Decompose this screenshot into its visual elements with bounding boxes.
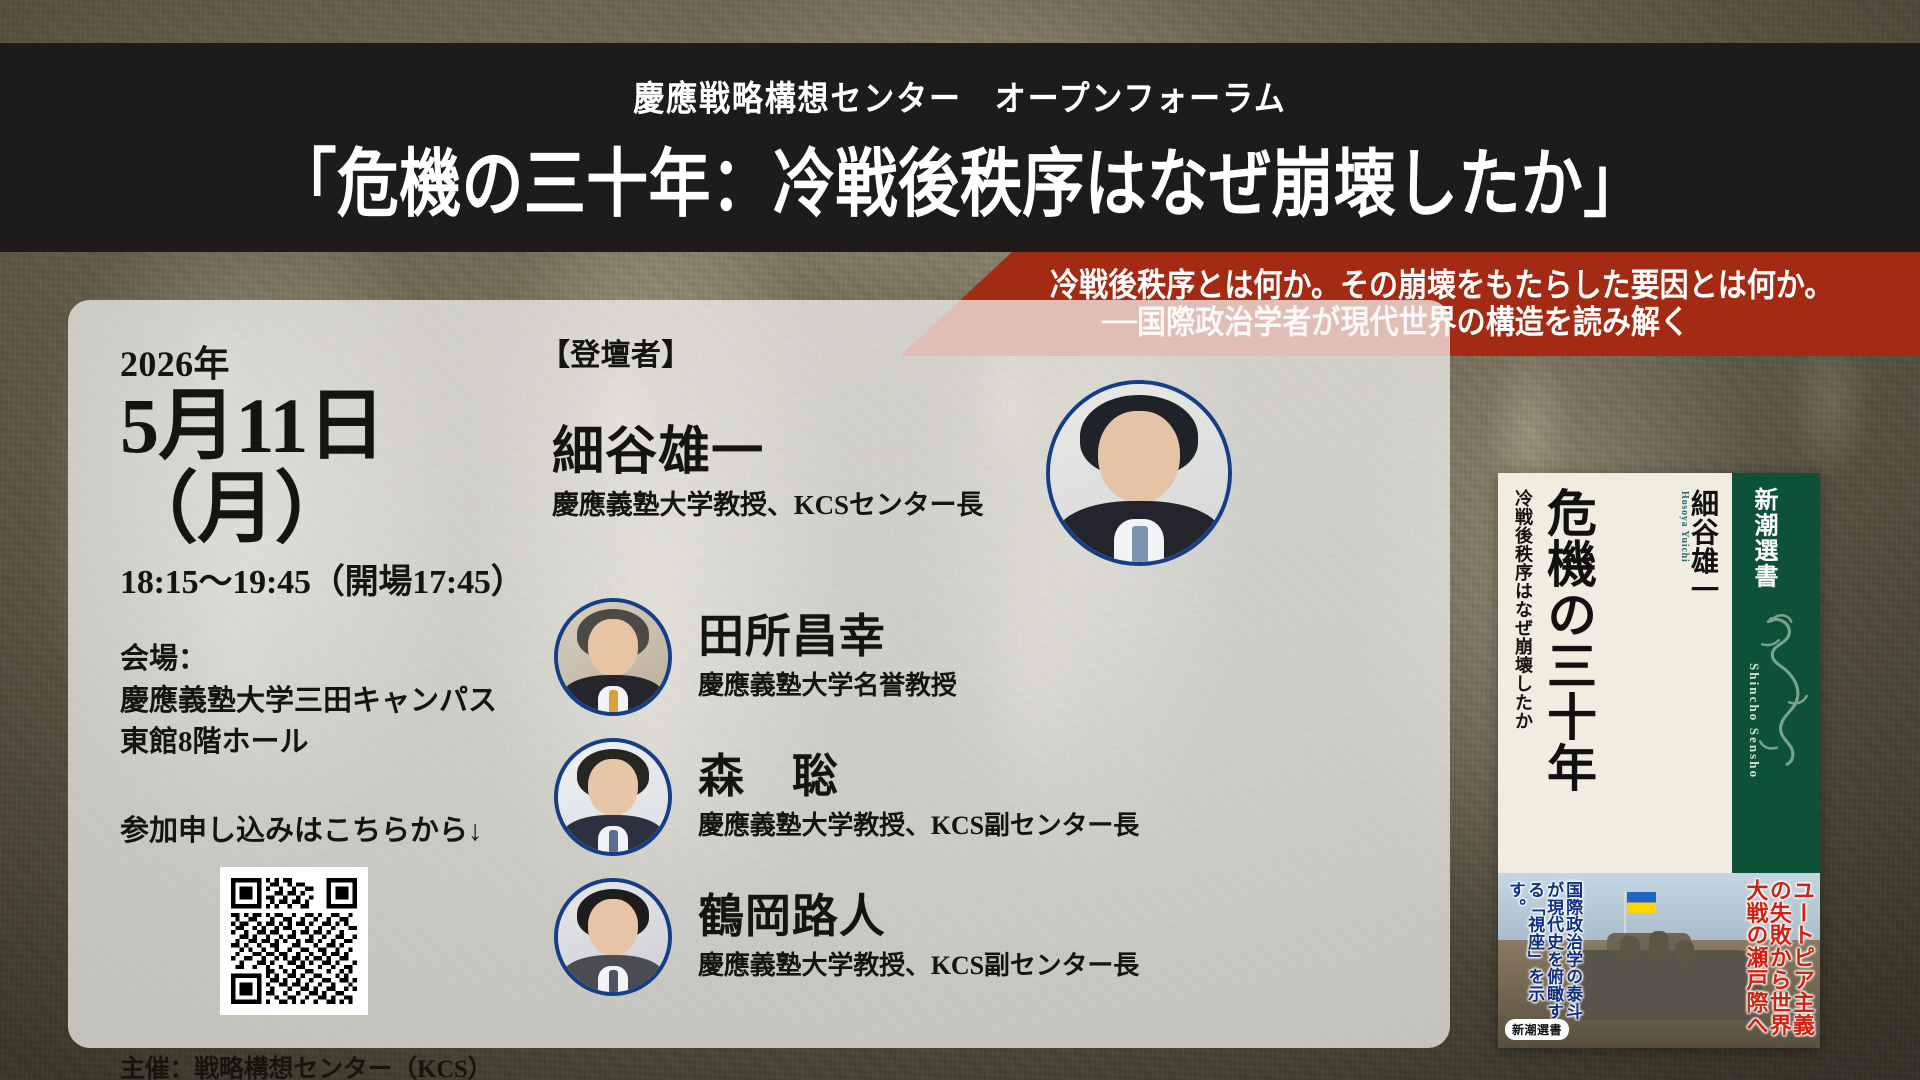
avatar	[554, 878, 672, 996]
speaker-name: 田所昌幸	[698, 612, 957, 663]
speaker-row: 鶴岡路人 慶應義塾大学教授、KCS副センター長	[540, 878, 1260, 996]
book-author: 細谷雄一	[1682, 489, 1722, 603]
obi-headline: ユートピア主義の失敗から世界大戦の瀬戸際へ	[1744, 879, 1814, 1039]
speaker-name: 細谷雄一	[552, 424, 1046, 481]
obi-description: 国際政治学の泰斗が現代史を俯瞰する「視座」を示す。	[1506, 881, 1582, 1031]
speaker-row: 細谷雄一 慶應義塾大学教授、KCSセンター長	[540, 380, 1260, 566]
soldier-figure	[1675, 940, 1694, 961]
avatar	[554, 598, 672, 716]
title-band: 慶應戦略構想センター オープンフォーラム 「危機の三十年：冷戦後秩序はなぜ崩壊し…	[0, 43, 1920, 252]
speaker-name: 森 聡	[698, 752, 1139, 803]
portrait-photo	[558, 882, 668, 992]
dragon-icon	[1754, 601, 1816, 791]
speaker-row: 森 聡 慶應義塾大学教授、KCS副センター長	[540, 738, 1260, 856]
book-subtitle: 冷戦後秩序はなぜ崩壊したか	[1514, 489, 1532, 819]
event-time: 18:15〜19:45（開場17:45）	[120, 554, 560, 603]
speaker-title: 慶應義塾大学教授、KCS副センター長	[698, 945, 1139, 982]
venue-line-2: 東館8階ホール	[120, 722, 560, 763]
portrait-photo	[1050, 384, 1228, 562]
venue-block: 会場： 慶應義塾大学三田キャンパス 東館8階ホール	[120, 639, 560, 763]
speaker-title: 慶應義塾大学名誉教授	[698, 665, 957, 702]
book-imprint: 新潮選書	[1746, 487, 1781, 589]
avatar	[554, 738, 672, 856]
ukraine-flag-icon	[1627, 892, 1656, 913]
speaker-title: 慶應義塾大学教授、KCS副センター長	[698, 805, 1139, 842]
qr-code-icon	[231, 878, 357, 1004]
book-imprint-band: 新潮選書 Shincho Sensho	[1732, 473, 1820, 873]
avatar	[1046, 380, 1232, 566]
speaker-title: 慶應義塾大学教授、KCSセンター長	[552, 483, 1046, 522]
book-title-area: 冷戦後秩序はなぜ崩壊したか 危機の三十年 Hosoya Yuichi 細谷雄一	[1498, 473, 1732, 873]
registration-qr-code[interactable]	[220, 867, 368, 1015]
book-cover: 冷戦後秩序はなぜ崩壊したか 危機の三十年 Hosoya Yuichi 細谷雄一 …	[1498, 473, 1820, 1048]
registration-prompt: 参加申し込みはこちらから↓	[120, 807, 560, 849]
venue-label: 会場：	[120, 639, 560, 680]
soldier-figure	[1649, 931, 1668, 957]
speakers-section-label: 【登壇者】	[540, 330, 1260, 374]
speaker-name: 鶴岡路人	[698, 892, 1139, 943]
book-obi-band: ユートピア主義の失敗から世界大戦の瀬戸際へ 国際政治学の泰斗が現代史を俯瞰する「…	[1498, 873, 1820, 1048]
tank-icon	[1575, 950, 1762, 1020]
book-front-face: 冷戦後秩序はなぜ崩壊したか 危機の三十年 Hosoya Yuichi 細谷雄一 …	[1498, 473, 1820, 873]
event-year: 2026年	[120, 335, 560, 387]
portrait-photo	[558, 742, 668, 852]
event-date: 5月11日（月）	[120, 385, 560, 550]
book-imprint-romanized: Shincho Sensho	[1746, 663, 1762, 779]
book-title: 危機の三十年	[1542, 487, 1593, 793]
organizer-text: 主催：戦略構想センター（KCS）	[120, 1049, 560, 1080]
event-details-column: 2026年 5月11日（月） 18:15〜19:45（開場17:45） 会場： …	[120, 335, 560, 1080]
obi-imprint-badge: 新潮選書	[1505, 1019, 1569, 1040]
page-title: 「危機の三十年：冷戦後秩序はなぜ崩壊したか」	[275, 123, 1646, 231]
speakers-column: 【登壇者】 細谷雄一 慶應義塾大学教授、KCSセンター長 田	[540, 330, 1260, 996]
portrait-photo	[558, 602, 668, 712]
event-series-label: 慶應戦略構想センター オープンフォーラム	[633, 70, 1286, 120]
speaker-row: 田所昌幸 慶應義塾大学名誉教授	[540, 598, 1260, 716]
venue-line-1: 慶應義塾大学三田キャンパス	[120, 681, 560, 722]
event-poster: 慶應戦略構想センター オープンフォーラム 「危機の三十年：冷戦後秩序はなぜ崩壊し…	[0, 0, 1920, 1080]
soldier-figure	[1620, 936, 1639, 959]
